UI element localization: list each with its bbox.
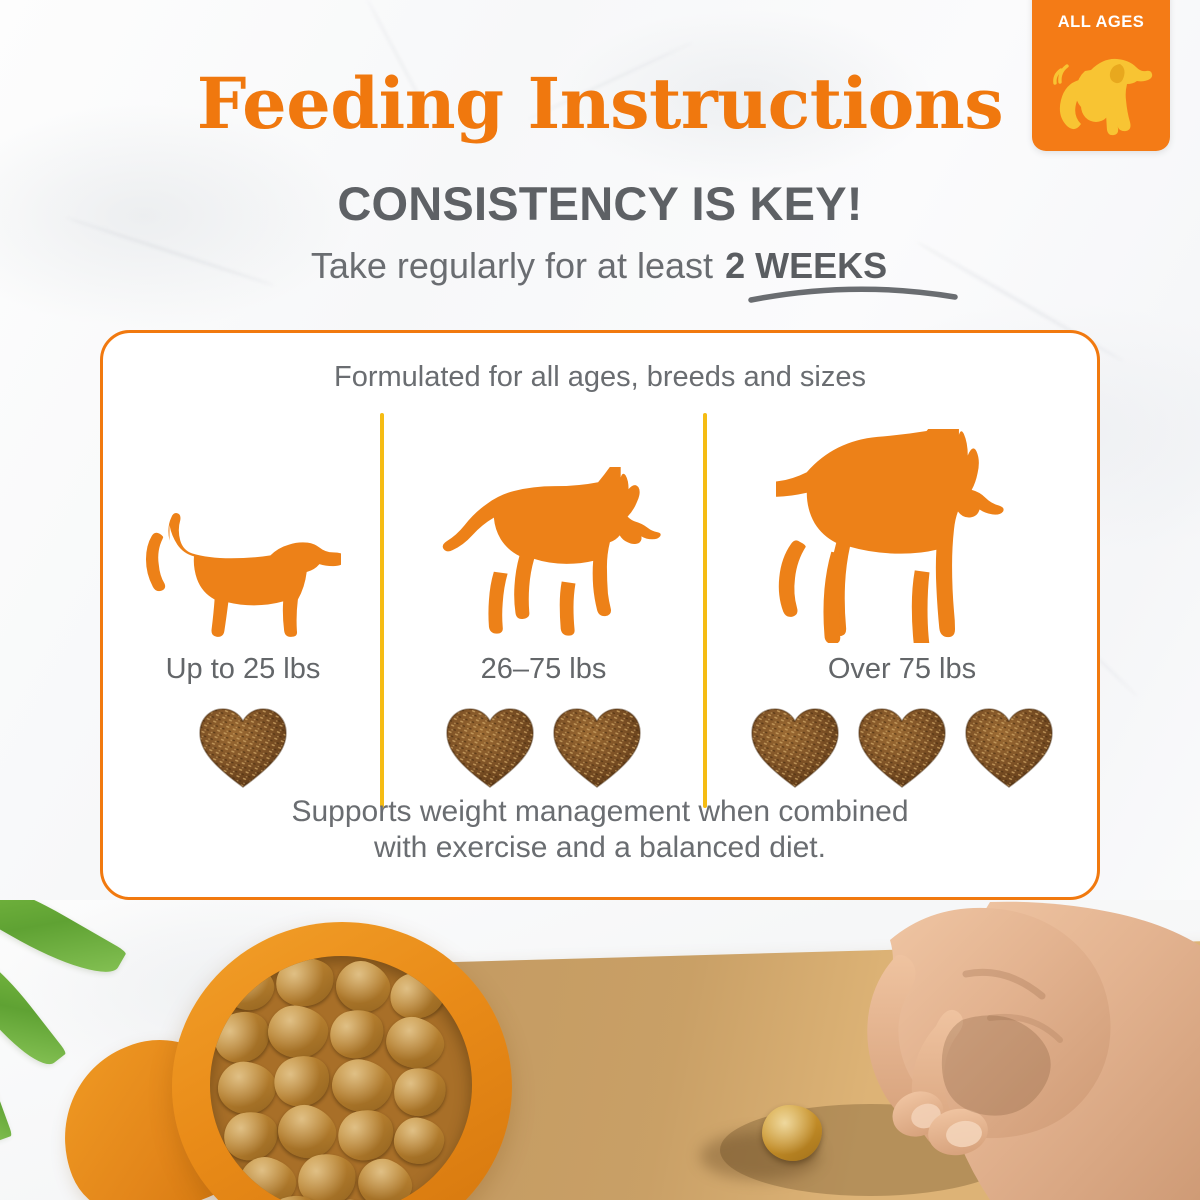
kibble-row-small [106,705,380,791]
kibble-heart-icon [197,705,289,791]
small-dog-illustration [106,429,380,643]
weight-label-large: Over 75 lbs [707,653,1097,686]
weight-label-small: Up to 25 lbs [106,653,380,686]
all-ages-badge-label: ALL AGES [1032,13,1170,32]
kibble-heart-icon [551,705,643,791]
sitting-dog-icon [1049,36,1155,136]
kibble-row-large [707,705,1097,791]
card-footer-line1: Supports weight management when combined [103,794,1097,831]
feeding-card: Formulated for all ages, breeds and size… [100,330,1100,900]
kibble-heart-icon [963,705,1055,791]
kibble-pile [210,956,472,1200]
card-footer: Supports weight management when combined… [103,794,1097,867]
card-footer-line2: with exercise and a balanced diet. [103,830,1097,867]
underline-swoosh [748,283,958,303]
all-ages-badge: ALL AGES [1032,0,1170,151]
page-subtitle: CONSISTENCY IS KEY! [0,176,1200,231]
weight-label-medium: 26–75 lbs [384,653,703,686]
tagline-prefix: Take regularly for at least [311,245,723,286]
size-column-small: Up to 25 lbs [106,409,380,809]
tagline-emphasis: 2 WEEKS [723,245,889,286]
medium-dog-icon [426,467,662,643]
infographic-canvas: ALL AGES Feeding Instructions CONSISTENC… [0,0,1200,1200]
product-photo [0,900,1200,1200]
size-column-large: Over 75 lbs [707,409,1097,809]
size-column-medium: 26–75 lbs [384,409,703,809]
kibble-row-medium [384,705,703,791]
large-dog-icon [776,429,1028,643]
page-title: Feeding Instructions [0,62,1200,145]
small-dog-icon [145,503,341,643]
kibble-heart-icon [749,705,841,791]
large-dog-illustration [707,429,1097,643]
card-heading: Formulated for all ages, breeds and size… [103,361,1097,394]
page-tagline: Take regularly for at least 2 WEEKS [0,245,1200,287]
kibble-heart-icon [444,705,536,791]
kibble-heart-icon [856,705,948,791]
medium-dog-illustration [384,429,703,643]
